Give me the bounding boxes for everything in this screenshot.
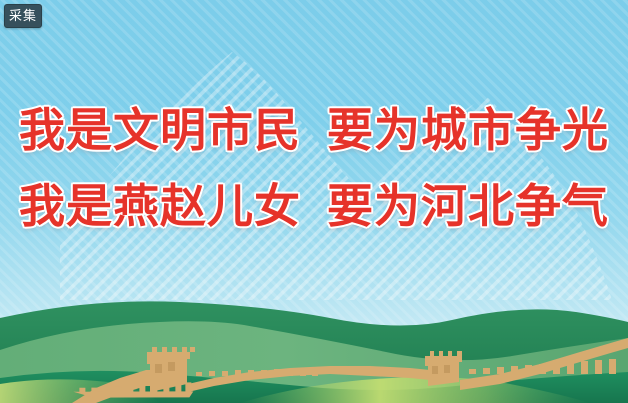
headline-line-1: 我是文明市民要为城市争光 [0, 92, 628, 168]
headline-block: 我是文明市民要为城市争光 我是燕赵儿女要为河北争气 [0, 92, 628, 244]
headline-line-2: 我是燕赵儿女要为河北争气 [0, 168, 628, 244]
headline-line-2-right: 要为河北争气 [327, 168, 609, 244]
headline-line-1-left: 我是文明市民 [19, 92, 301, 168]
headline-line-2-left: 我是燕赵儿女 [19, 168, 301, 244]
capture-button[interactable]: 采集 [4, 4, 42, 28]
headline-line-1-right: 要为城市争光 [327, 92, 609, 168]
banner-image: 我是文明市民要为城市争光 我是燕赵儿女要为河北争气 采集 [0, 0, 628, 403]
